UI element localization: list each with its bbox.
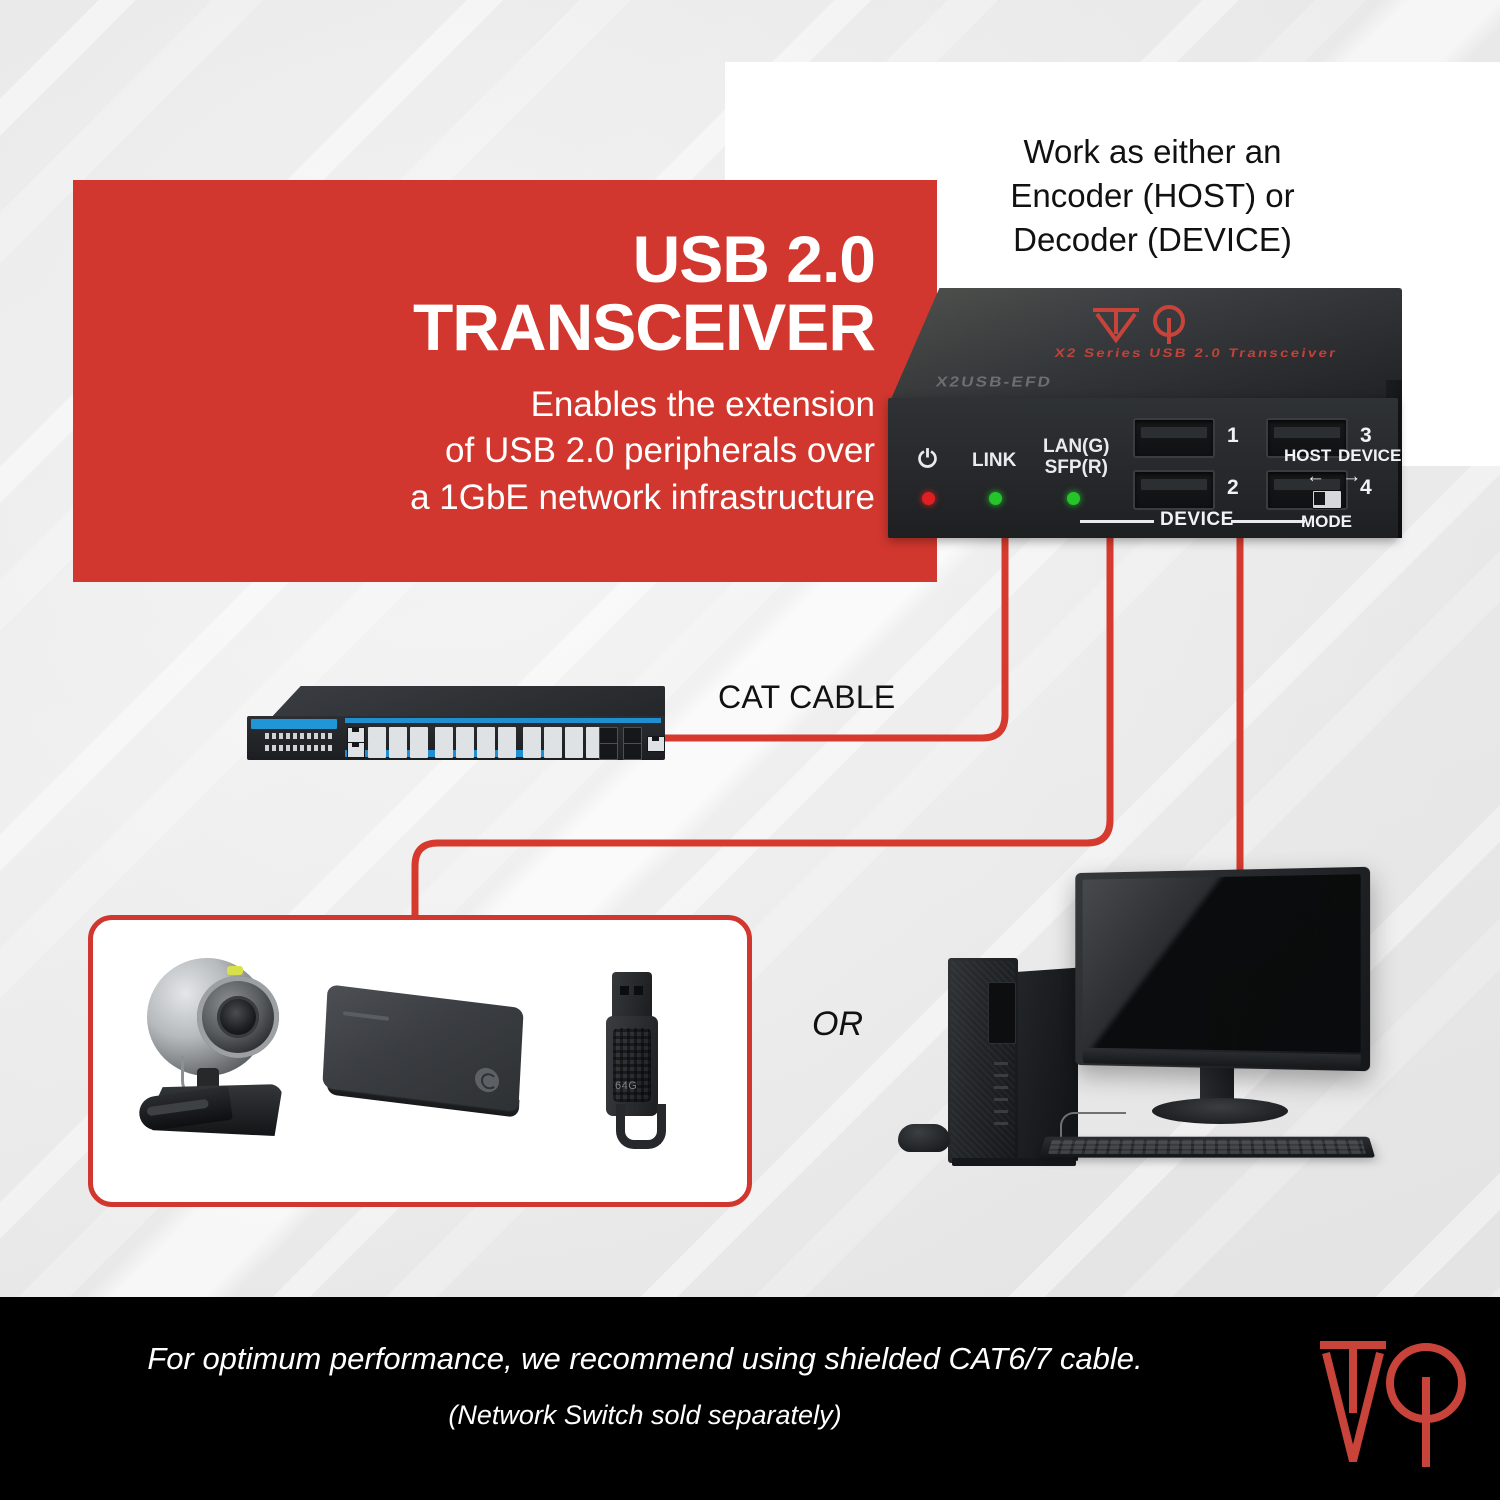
footer-disclaimer-text: (Network Switch sold separately) (0, 1400, 1290, 1431)
usb-port-3-number: 3 (1360, 424, 1372, 448)
product-headline-banner: USB 2.0 TRANSCEIVER Enables the extensio… (73, 180, 937, 582)
usb-transceiver-device: X2 Series USB 2.0 Transceiver X2USB-EFD … (888, 288, 1402, 543)
switch-top-surface (269, 686, 665, 720)
switch-led-row-top (265, 733, 269, 739)
switch-blue-bottom-strip (345, 750, 555, 757)
switch-rj45-row-top[interactable] (347, 727, 365, 743)
switch-led-row-bottom (265, 745, 269, 751)
or-separator-label: OR (812, 1005, 863, 1044)
flash-drive-connector (612, 972, 652, 1018)
switch-rj45-row-bottom[interactable] (347, 742, 365, 758)
tv-logo-icon (1083, 304, 1203, 346)
usb-port-1[interactable] (1133, 418, 1215, 458)
cat-cable-label: CAT CABLE (718, 679, 896, 716)
monitor-bottom-bezel (1083, 1050, 1361, 1069)
switch-sfp-slot-4[interactable] (623, 743, 642, 760)
keyboard (1039, 1137, 1375, 1158)
usb-port-2[interactable] (1133, 470, 1215, 510)
footer-recommendation-text: For optimum performance, we recommend us… (0, 1341, 1290, 1377)
device-rail-left (1080, 520, 1154, 523)
encoder-decoder-caption: Work as either an Encoder (HOST) or Deco… (955, 130, 1350, 262)
device-rail-label: DEVICE (1160, 509, 1234, 531)
pc-front-ports (994, 1062, 1008, 1132)
computer-mouse (898, 1124, 950, 1152)
network-switch (247, 686, 665, 764)
flash-drive-capacity: 64G (615, 1080, 637, 1092)
power-icon: ⏻ (918, 446, 937, 474)
lan-sfp-label: LAN(G) SFP(R) (1043, 436, 1109, 479)
external-hard-drive-icon (325, 996, 543, 1124)
device-top-subtitle: X2 Series USB 2.0 Transceiver (1035, 347, 1357, 361)
device-rail-right (1231, 520, 1305, 523)
mode-toggle-switch[interactable] (1312, 490, 1342, 509)
mode-label: MODE (1301, 512, 1352, 532)
flash-drive-lanyard-loop (616, 1104, 666, 1149)
host-label: HOST (1284, 446, 1331, 466)
switch-status-panel (251, 719, 337, 729)
page-title: USB 2.0 TRANSCEIVER (133, 226, 875, 362)
monitor-stand-base (1152, 1098, 1288, 1124)
lan-sfp-led (1067, 492, 1080, 505)
monitor-screen-glare (1083, 874, 1361, 1052)
usb-peripherals-group: 64G (88, 915, 752, 1207)
switch-blue-top-strip (345, 718, 661, 723)
usb-flash-drive-icon: 64G (601, 972, 663, 1144)
switch-front-panel (247, 716, 665, 760)
power-led (922, 492, 935, 505)
pc-optical-drive (988, 982, 1016, 1044)
webcam-lens (217, 996, 259, 1038)
webcam-indicator-led (227, 966, 243, 975)
tv-logo-icon (1312, 1327, 1472, 1475)
footer-bar: For optimum performance, we recommend us… (0, 1297, 1500, 1500)
switch-sfp-slot-3[interactable] (623, 727, 642, 744)
switch-sfp-slot-2[interactable] (599, 743, 618, 760)
usb-port-2-number: 2 (1227, 476, 1239, 500)
link-led (989, 492, 1002, 505)
webcam-icon (135, 952, 295, 1142)
switch-sfp-slot-1[interactable] (599, 727, 618, 744)
desktop-computer-icon (870, 862, 1370, 1202)
switch-console-port[interactable] (647, 736, 665, 752)
monitor (1075, 867, 1370, 1072)
device-model-label: X2USB-EFD (935, 374, 1054, 391)
mode-arrows-icon: ← → (1306, 466, 1367, 488)
pc-tower-feet (952, 1158, 1076, 1166)
banner-subtitle: Enables the extension of USB 2.0 periphe… (133, 382, 875, 522)
usb-port-1-number: 1 (1227, 424, 1239, 448)
device-mode-label: DEVICE (1338, 446, 1401, 466)
device-front-panel: ⏻ LINK LAN(G) SFP(R) 1 2 3 4 DEVICE HOST… (888, 398, 1398, 538)
link-label: LINK (972, 450, 1016, 472)
